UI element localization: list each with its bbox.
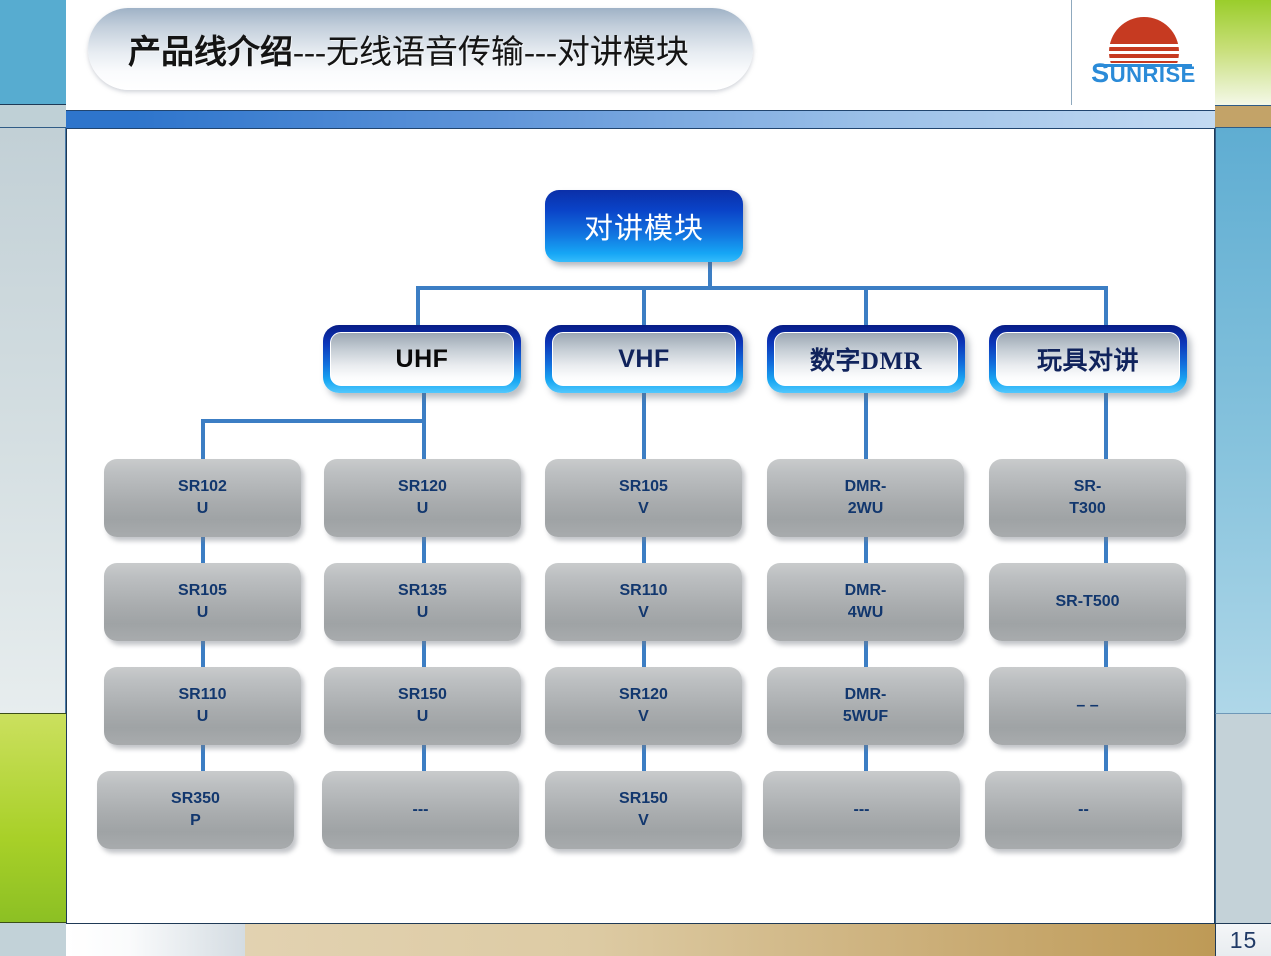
node-category-uhf[interactable]: UHF	[323, 325, 521, 393]
frame-left-gradient-bar	[0, 128, 66, 713]
frame-left-bottom-block	[0, 923, 66, 956]
slide-canvas: 15 产品线介绍---无线语音传输---对讲模块 SUNRISE	[0, 0, 1271, 956]
product-box[interactable]: --	[985, 771, 1182, 849]
connector-bus-to-dmr	[864, 286, 868, 328]
product-label: SR120 V	[619, 684, 668, 727]
connector-root-bus	[416, 286, 1108, 290]
product-label: DMR- 5WUF	[843, 684, 888, 727]
product-box[interactable]: SR102 U	[104, 459, 301, 537]
slide-content-area: 对讲模块 UHF VHF 数字DMR 玩具对讲 SR102 U S	[66, 129, 1215, 923]
header-divider-bar	[66, 110, 1215, 129]
product-label: SR105 U	[178, 580, 227, 623]
product-box[interactable]: SR105 V	[545, 459, 742, 537]
sun-icon	[1109, 17, 1179, 63]
footer-tan-bar	[245, 923, 1215, 956]
product-label: SR120 U	[398, 476, 447, 519]
product-box[interactable]: SR150 V	[545, 771, 742, 849]
product-box[interactable]: SR110 U	[104, 667, 301, 745]
product-box[interactable]: SR- T300	[989, 459, 1186, 537]
product-label: SR150 V	[619, 788, 668, 831]
connector-bus-to-uhf	[416, 286, 420, 328]
frame-right-gradient-bar	[1215, 128, 1271, 713]
product-label: SR150 U	[398, 684, 447, 727]
connector-bus-to-toy	[1104, 286, 1108, 328]
sunrise-logo: SUNRISE	[1071, 0, 1215, 105]
frame-right-lower-block	[1215, 713, 1271, 923]
node-root-label: 对讲模块	[584, 205, 704, 247]
page-title-rest: ---无线语音传输---对讲模块	[293, 25, 689, 73]
product-box[interactable]: SR150 U	[324, 667, 521, 745]
product-label: SR110 U	[178, 684, 226, 727]
page-title: 产品线介绍---无线语音传输---对讲模块	[128, 20, 728, 78]
page-number: 15	[1215, 923, 1271, 956]
frame-right-green-block	[1215, 0, 1271, 105]
node-category-uhf-label: UHF	[396, 345, 449, 374]
product-box[interactable]: DMR- 4WU	[767, 563, 964, 641]
product-label: DMR- 2WU	[845, 476, 887, 519]
product-label: – –	[1076, 695, 1098, 717]
connector-uhf-to-col1	[201, 419, 205, 461]
product-label: SR102 U	[178, 476, 227, 519]
product-label: SR350 P	[171, 788, 220, 831]
node-category-vhf[interactable]: VHF	[545, 325, 743, 393]
logo-wordmark-cap: S	[1091, 58, 1110, 88]
product-box[interactable]: SR105 U	[104, 563, 301, 641]
connector-bus-to-vhf	[642, 286, 646, 328]
product-label: ---	[854, 799, 870, 821]
connector-uhf-bus	[201, 419, 426, 423]
product-box[interactable]: SR135 U	[324, 563, 521, 641]
product-label: SR- T300	[1069, 476, 1105, 519]
node-category-dmr-label: 数字DMR	[810, 341, 922, 377]
product-label: SR105 V	[619, 476, 668, 519]
frame-left-green-block	[0, 713, 66, 923]
frame-right-tan-band	[1215, 105, 1271, 128]
product-box[interactable]: ---	[763, 771, 960, 849]
frame-left-band	[0, 105, 66, 128]
product-box[interactable]: SR120 U	[324, 459, 521, 537]
product-label: DMR- 4WU	[845, 580, 887, 623]
product-label: SR135 U	[398, 580, 447, 623]
logo-wordmark-rest: UNRISE	[1110, 62, 1196, 87]
footer-silver-bar	[66, 923, 245, 956]
product-box[interactable]: – –	[989, 667, 1186, 745]
product-box[interactable]: DMR- 2WU	[767, 459, 964, 537]
node-category-toy[interactable]: 玩具对讲	[989, 325, 1187, 393]
product-label: ---	[413, 799, 429, 821]
product-label: SR110 V	[619, 580, 667, 623]
product-box[interactable]: SR120 V	[545, 667, 742, 745]
product-label: --	[1078, 799, 1089, 821]
product-box[interactable]: ---	[322, 771, 519, 849]
node-root[interactable]: 对讲模块	[545, 190, 743, 262]
product-label: SR-T500	[1055, 591, 1119, 613]
node-category-vhf-label: VHF	[618, 345, 670, 374]
product-box[interactable]: DMR- 5WUF	[767, 667, 964, 745]
page-title-bold: 产品线介绍	[128, 25, 293, 73]
frame-left-teal-block	[0, 0, 66, 105]
product-box[interactable]: SR110 V	[545, 563, 742, 641]
product-box[interactable]: SR-T500	[989, 563, 1186, 641]
node-category-dmr[interactable]: 数字DMR	[767, 325, 965, 393]
node-category-toy-label: 玩具对讲	[1037, 341, 1139, 377]
connector-root-drop	[708, 262, 712, 289]
product-box[interactable]: SR350 P	[97, 771, 294, 849]
